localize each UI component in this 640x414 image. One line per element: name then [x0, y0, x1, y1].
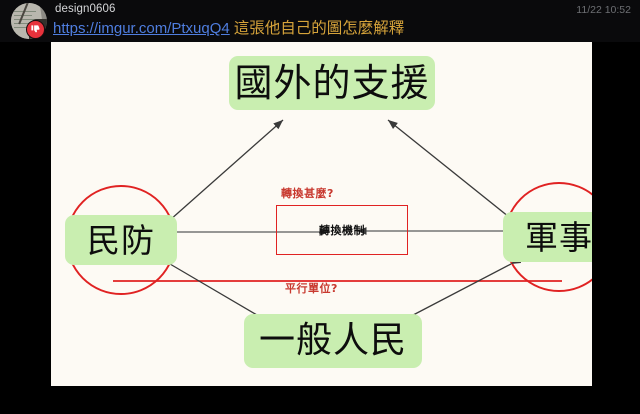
conversion-mechanism-label: 轉換機制 — [319, 222, 365, 238]
screen-root: design0606 11/22 10:52 https://imgur.com… — [0, 0, 640, 414]
annotation-parallel-unit: 平行單位? — [285, 280, 338, 296]
node-military[interactable]: 軍事 — [503, 212, 592, 262]
arrow-civil-foreign — [170, 120, 283, 220]
comment-message: 這張他自己的圖怎麼解釋 — [234, 20, 405, 37]
node-civil-defense[interactable]: 民防 — [65, 215, 177, 265]
node-foreign-support[interactable]: 國外的支援 — [229, 56, 435, 110]
arrow-military-foreign — [388, 120, 509, 217]
node-general-public[interactable]: 一般人民 — [244, 314, 422, 368]
diagram-slide: 國外的支援 民防 軍事 一般人民 轉換機制 轉換甚麼? 平行單位? — [51, 42, 592, 386]
comment-timestamp: 11/22 10:52 — [576, 4, 631, 16]
comment-header: design0606 11/22 10:52 https://imgur.com… — [0, 0, 640, 42]
comment-username[interactable]: design0606 — [55, 3, 115, 15]
comment-body: https://imgur.com/PtxuqQ4這張他自己的圖怎麼解釋 — [53, 18, 633, 40]
node-conversion-mechanism[interactable]: 轉換機制 — [276, 205, 408, 255]
thumbs-down-icon[interactable] — [26, 20, 45, 39]
annotation-convert-what: 轉換甚麼? — [281, 185, 334, 201]
comment-link[interactable]: https://imgur.com/PtxuqQ4 — [53, 20, 230, 37]
